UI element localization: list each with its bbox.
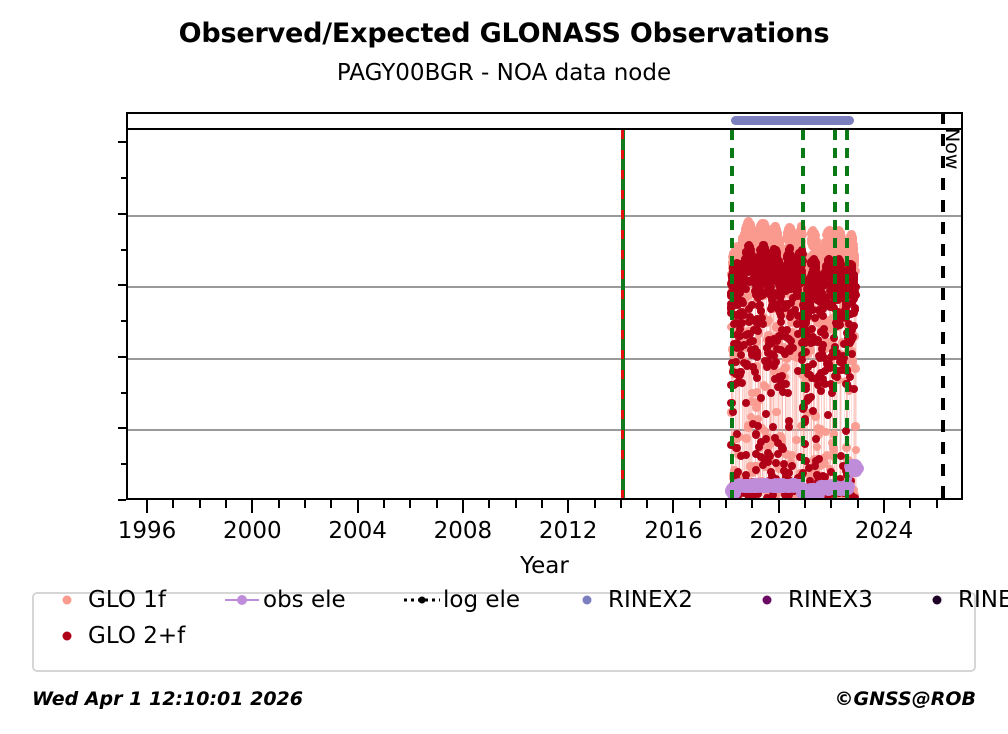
x-tick-2008 — [462, 500, 464, 513]
x-minor-tick-2001 — [278, 500, 280, 508]
drop-stem — [813, 230, 814, 494]
chart-subtitle: PAGY00BGR - NOA data node — [0, 60, 1008, 86]
drop-stem — [781, 245, 782, 494]
drop-stem — [778, 233, 779, 494]
drop-stem — [775, 227, 776, 496]
x-minor-tick-2018 — [725, 500, 727, 508]
chart-page: Observed/Expected GLONASS Observations P… — [0, 0, 1008, 734]
x-tick-2020 — [778, 500, 780, 513]
rinex-bar-rinex2 — [731, 116, 855, 125]
legend-rinex2-label: RINEX2 — [608, 587, 693, 613]
legend-rinex2[interactable]: RINEX2 — [568, 587, 693, 613]
x-minor-tick-2002 — [304, 500, 306, 508]
drop-stem — [826, 238, 827, 500]
drop-stem — [760, 226, 761, 496]
legend-obs-ele-label: obs ele — [263, 587, 346, 613]
x-minor-tick-2005 — [383, 500, 385, 508]
x-minor-tick-2025 — [909, 500, 911, 508]
legend-obs-ele[interactable]: obs ele — [223, 587, 346, 613]
legend-rinex3[interactable]: RINEX3 — [748, 587, 873, 613]
drop-stem — [752, 231, 753, 498]
x-minor-tick-2023 — [857, 500, 859, 508]
x-tick-label-2000: 2000 — [197, 518, 307, 544]
x-axis-label: Year — [126, 553, 963, 579]
x-minor-tick-2021 — [804, 500, 806, 508]
drop-stem — [816, 235, 817, 500]
x-tick-2012 — [567, 500, 569, 513]
obs-ele-line-segment — [853, 466, 857, 469]
x-tick-label-2024: 2024 — [829, 518, 939, 544]
legend: GLO 1fobs elelog eleRINEX2RINEX3RINEX4GL… — [32, 592, 976, 672]
x-minor-tick-2014 — [620, 500, 622, 508]
legend-glo-2f-swatch-icon — [48, 627, 86, 645]
rinex-version-strip — [126, 112, 963, 128]
drop-stem — [840, 231, 841, 496]
station-event-green-2018 — [730, 130, 734, 498]
x-tick-label-2020: 2020 — [724, 518, 834, 544]
legend-rinex3-label: RINEX3 — [788, 587, 873, 613]
legend-glo-2f-label: GLO 2+f — [88, 623, 185, 649]
legend-rinex4-swatch-icon — [918, 591, 956, 609]
legend-rinex4-label: RINEX4 — [958, 587, 1008, 613]
x-minor-tick-1999 — [225, 500, 227, 508]
drop-stem — [735, 282, 736, 496]
x-minor-tick-2006 — [409, 500, 411, 508]
x-tick-label-2008: 2008 — [408, 518, 518, 544]
x-minor-tick-2007 — [436, 500, 438, 508]
legend-glo-1f-label: GLO 1f — [88, 587, 166, 613]
x-minor-tick-2011 — [541, 500, 543, 508]
drop-stem — [787, 252, 788, 495]
drop-stem — [770, 241, 771, 495]
legend-log-ele[interactable]: log ele — [403, 587, 520, 613]
y-minor-tick-50 — [121, 320, 126, 322]
drop-stem — [759, 230, 760, 495]
drop-stem — [736, 253, 737, 494]
drop-stem — [821, 251, 822, 497]
drop-stem — [758, 235, 759, 500]
y-minor-tick-90 — [121, 177, 126, 179]
x-minor-tick-1997 — [172, 500, 174, 508]
drop-stem — [814, 231, 815, 498]
drop-stem — [785, 255, 786, 498]
drop-stem — [856, 255, 857, 496]
x-tick-1996 — [146, 500, 148, 513]
legend-log-ele-label: log ele — [443, 587, 520, 613]
legend-glo-1f[interactable]: GLO 1f — [48, 587, 166, 613]
drop-stem — [748, 222, 749, 498]
x-minor-tick-2009 — [488, 500, 490, 508]
x-tick-2024 — [883, 500, 885, 513]
y-tick-60 — [118, 284, 126, 286]
drop-stem — [818, 246, 819, 494]
drop-stem — [796, 239, 797, 495]
data-point — [733, 242, 742, 251]
x-minor-tick-2017 — [699, 500, 701, 508]
drop-stem — [837, 233, 838, 498]
y-minor-tick-30 — [121, 392, 126, 394]
x-tick-label-2016: 2016 — [618, 518, 728, 544]
x-tick-2016 — [672, 500, 674, 513]
drop-stem — [746, 227, 747, 497]
y-tick-100 — [118, 141, 126, 143]
x-tick-label-2004: 2004 — [303, 518, 413, 544]
x-minor-tick-2026 — [936, 500, 938, 508]
y-tick-0 — [118, 499, 126, 501]
legend-glo-2f[interactable]: GLO 2+f — [48, 623, 185, 649]
plot-area — [126, 128, 963, 500]
x-minor-tick-2010 — [515, 500, 517, 508]
x-minor-tick-2013 — [594, 500, 596, 508]
drop-stem — [762, 222, 763, 496]
drop-stem — [739, 255, 740, 500]
y-tick-40 — [118, 356, 126, 358]
drop-stem — [851, 234, 852, 496]
drop-stem — [750, 224, 751, 494]
legend-glo-1f-swatch-icon — [48, 591, 86, 609]
station-event-green-2022b — [845, 130, 849, 498]
x-tick-label-1996: 1996 — [92, 518, 202, 544]
obs-ele-line-segment — [736, 485, 804, 488]
x-tick-label-2012: 2012 — [513, 518, 623, 544]
x-minor-tick-2022 — [830, 500, 832, 508]
drop-stem — [782, 249, 783, 497]
legend-rinex3-swatch-icon — [748, 591, 786, 609]
page-title: Observed/Expected GLONASS Observations — [0, 18, 1008, 49]
legend-rinex2-swatch-icon — [568, 591, 606, 609]
drop-stem — [810, 258, 811, 495]
drop-stem — [755, 239, 756, 496]
y-tick-80 — [118, 213, 126, 215]
station-event-red-2014 — [621, 130, 624, 498]
station-event-green-2022a — [833, 130, 837, 498]
drop-stem — [849, 243, 850, 495]
drop-stem — [766, 227, 767, 497]
drop-stem — [790, 227, 791, 497]
now-line — [941, 112, 945, 500]
x-tick-2004 — [357, 500, 359, 513]
timestamp-footer: Wed Apr 1 12:10:01 2026 — [32, 688, 303, 710]
drop-stem — [806, 263, 807, 498]
drop-stem — [823, 249, 824, 495]
x-minor-tick-2015 — [646, 500, 648, 508]
drop-stem — [792, 231, 793, 497]
x-minor-tick-2019 — [751, 500, 753, 508]
legend-obs-ele-swatch-icon — [223, 591, 261, 609]
y-minor-tick-10 — [121, 463, 126, 465]
legend-rinex4[interactable]: RINEX4 — [918, 587, 1008, 613]
station-event-green-2021 — [801, 130, 805, 498]
y-tick-20 — [118, 427, 126, 429]
drop-stem — [854, 245, 855, 496]
x-minor-tick-2003 — [330, 500, 332, 508]
legend-log-ele-swatch-icon — [403, 591, 441, 609]
drop-stem — [798, 232, 799, 493]
copyright-footer: ©GNSS@ROB — [835, 688, 976, 710]
x-tick-2000 — [251, 500, 253, 513]
drop-stem — [745, 231, 746, 496]
y-minor-tick-70 — [121, 249, 126, 251]
x-minor-tick-1998 — [199, 500, 201, 508]
